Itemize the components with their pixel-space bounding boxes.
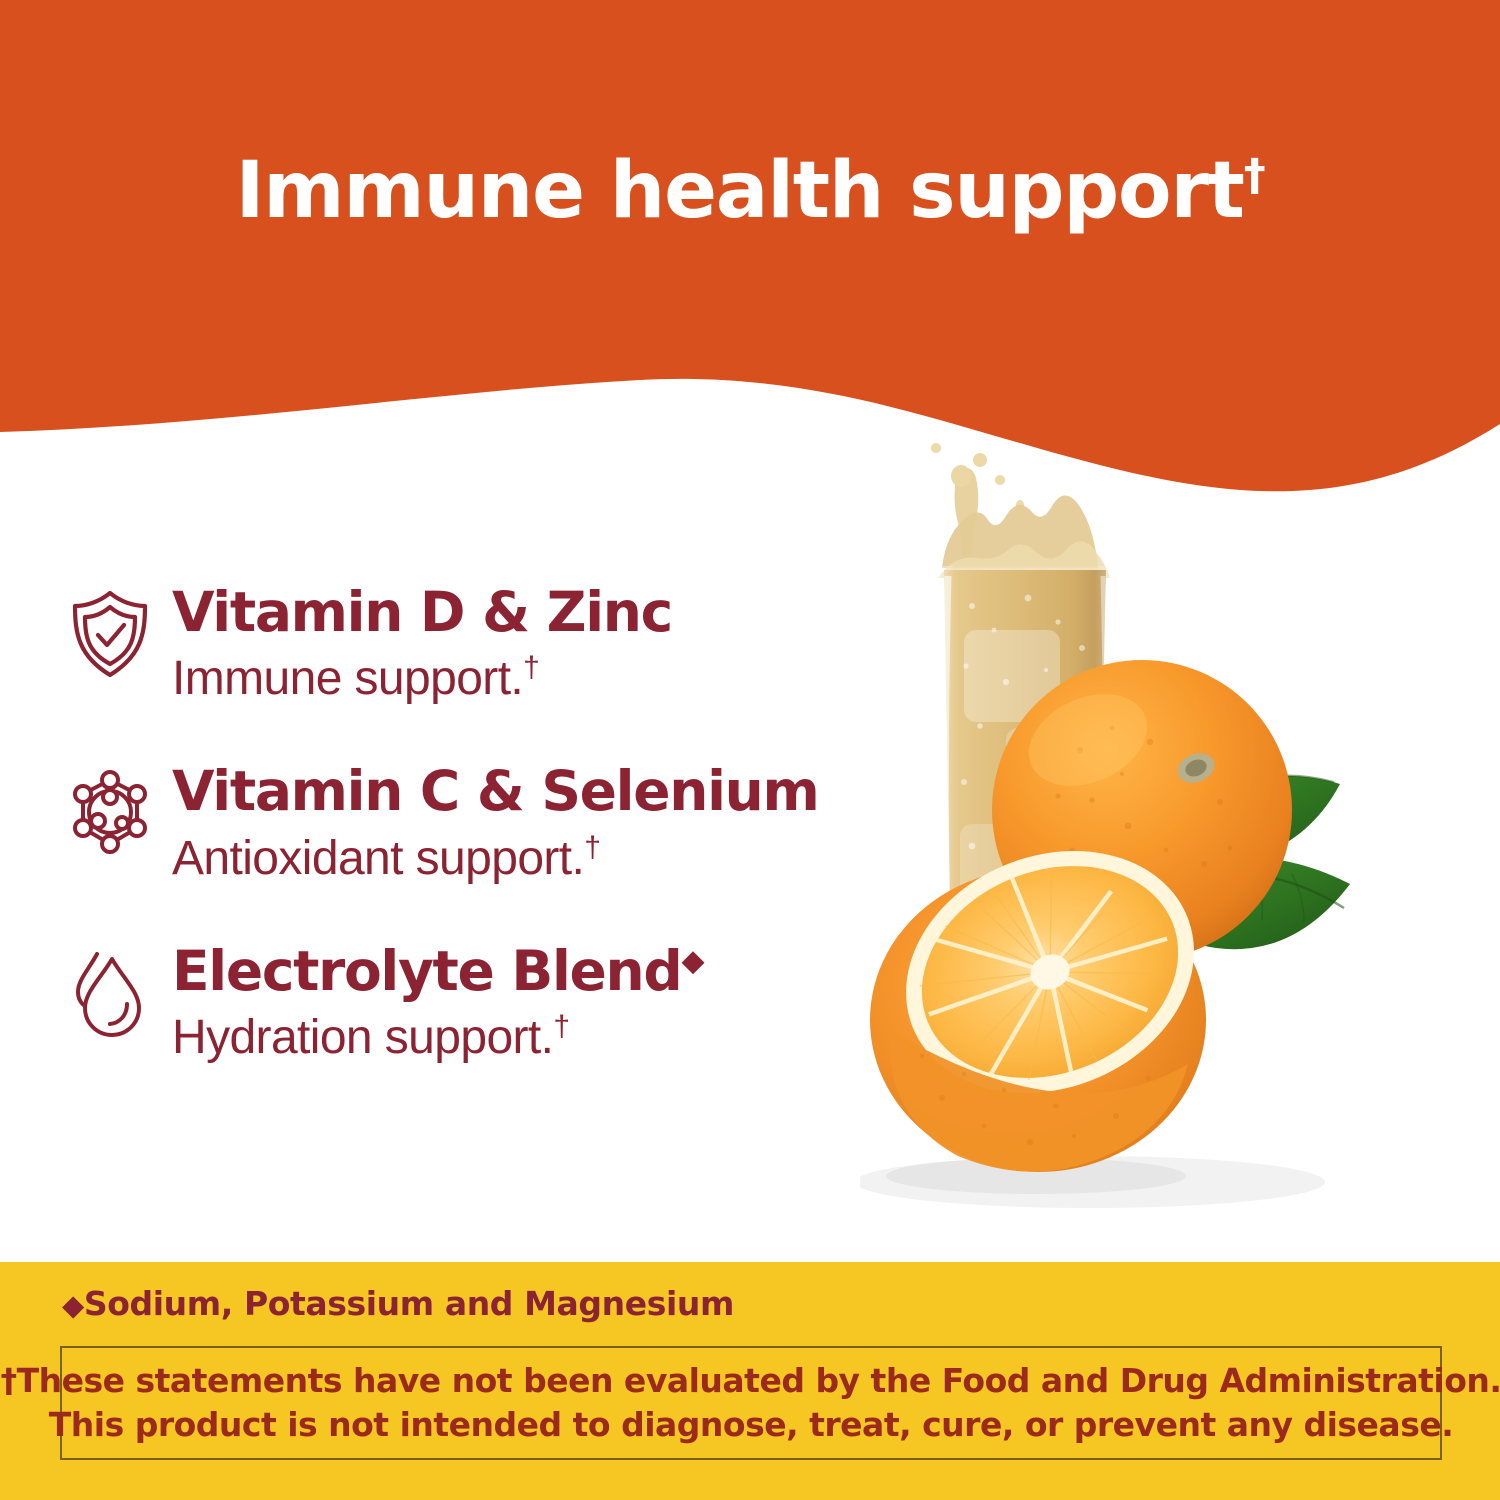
feature-subtitle-dagger: †	[553, 1010, 569, 1043]
feature-item-vitamin-d-zinc: Vitamin D & Zinc Immune support.†	[58, 582, 858, 706]
feature-title-superscript: ◆	[681, 943, 703, 978]
page-title-dagger: †	[1244, 150, 1265, 201]
feature-subtitle-dagger: †	[584, 831, 600, 864]
feature-title: Vitamin C & Selenium	[172, 763, 819, 820]
footer-disclaimer-band: ◆Sodium, Potassium and Magnesium †These …	[0, 1262, 1500, 1500]
feature-title: Electrolyte Blend◆	[172, 943, 703, 1000]
electrolyte-footnote-text: Sodium, Potassium and Magnesium	[84, 1284, 734, 1323]
page-title-text: Immune health support	[235, 146, 1243, 236]
feature-subtitle-text: Immune support.	[172, 652, 523, 705]
feature-text-block: Vitamin C & Selenium Antioxidant support…	[162, 761, 819, 885]
feature-subtitle-dagger: †	[523, 651, 539, 684]
feature-subtitle: Antioxidant support.†	[172, 831, 819, 886]
feature-item-vitamin-c-selenium: Vitamin C & Selenium Antioxidant support…	[58, 761, 858, 885]
fda-disclaimer-line-1: †These statements have not been evaluate…	[1, 1359, 1500, 1403]
fda-disclaimer-box: †These statements have not been evaluate…	[60, 1346, 1442, 1460]
feature-subtitle: Immune support.†	[172, 651, 672, 706]
molecule-hexagon-icon	[58, 761, 162, 865]
page-title: Immune health support†	[0, 152, 1500, 230]
electrolyte-footnote: ◆Sodium, Potassium and Magnesium	[62, 1284, 734, 1323]
feature-title: Vitamin D & Zinc	[172, 584, 672, 641]
product-infographic: Immune health support† Vitamin D & Zinc …	[0, 0, 1500, 1500]
shield-check-icon	[58, 582, 162, 686]
feature-subtitle-text: Hydration support.	[172, 1011, 553, 1064]
feature-title-text: Vitamin D & Zinc	[172, 580, 672, 644]
feature-title-text: Vitamin C & Selenium	[172, 759, 819, 823]
feature-text-block: Vitamin D & Zinc Immune support.†	[162, 582, 672, 706]
diamond-symbol-icon: ◆	[62, 1288, 84, 1322]
feature-title-text: Electrolyte Blend	[172, 939, 681, 1003]
feature-list: Vitamin D & Zinc Immune support.†	[58, 582, 858, 1065]
feature-subtitle-text: Antioxidant support.	[172, 832, 584, 885]
feature-subtitle: Hydration support.†	[172, 1010, 703, 1065]
water-droplet-icon	[58, 941, 162, 1045]
product-image-glass-and-oranges	[860, 330, 1500, 1270]
feature-item-electrolyte-blend: Electrolyte Blend◆ Hydration support.†	[58, 941, 858, 1065]
fda-disclaimer-line-2: This product is not intended to diagnose…	[49, 1403, 1454, 1447]
feature-text-block: Electrolyte Blend◆ Hydration support.†	[162, 941, 703, 1065]
